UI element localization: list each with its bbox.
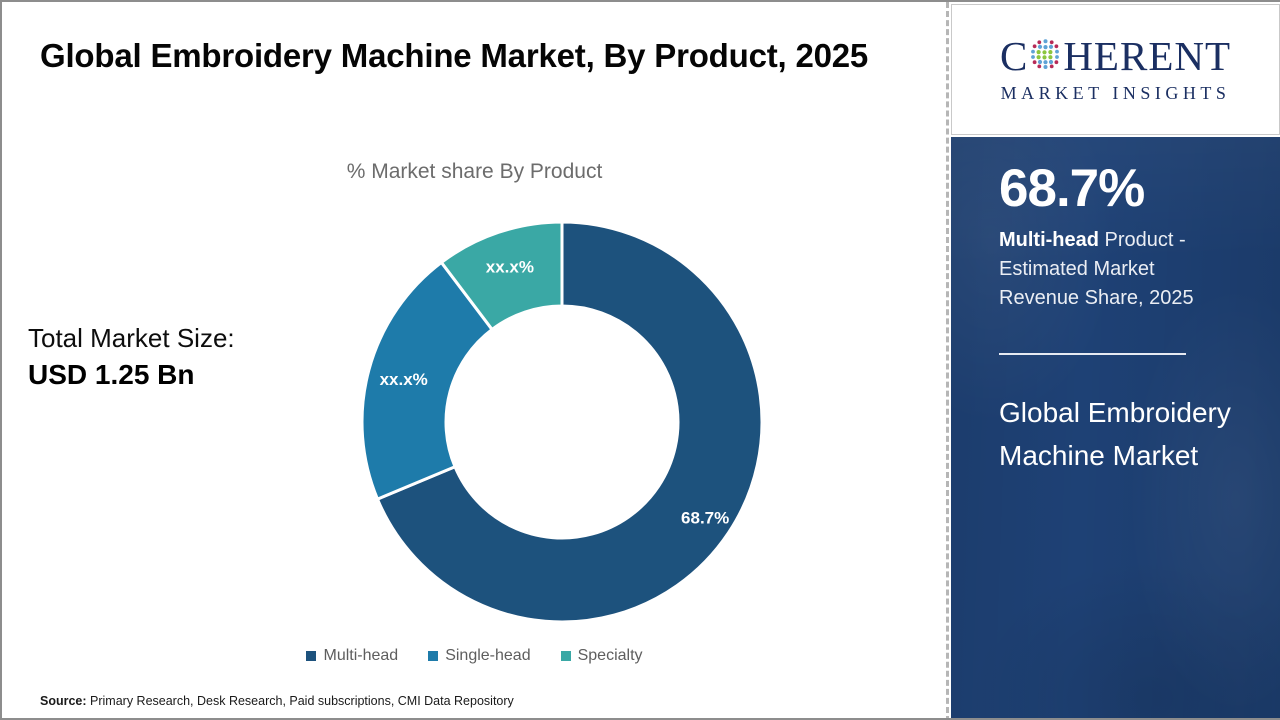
donut-label-specialty: xx.x% bbox=[486, 258, 534, 277]
panel-divider bbox=[946, 2, 949, 720]
stat-divider bbox=[999, 353, 1186, 355]
source-text: Primary Research, Desk Research, Paid su… bbox=[87, 694, 514, 708]
infographic-page: Global Embroidery Machine Market, By Pro… bbox=[0, 0, 1280, 720]
legend-label: Specialty bbox=[578, 647, 643, 665]
legend-swatch-icon bbox=[561, 651, 571, 661]
donut-label-multi-head: 68.7% bbox=[681, 508, 729, 527]
logo-tagline: MARKET INSIGHTS bbox=[1001, 83, 1231, 104]
total-market-size-value: USD 1.25 Bn bbox=[28, 357, 328, 393]
legend-item-multi-head[interactable]: Multi-head bbox=[306, 647, 398, 665]
donut-label-single-head: xx.x% bbox=[380, 370, 428, 389]
legend-item-specialty[interactable]: Specialty bbox=[561, 647, 643, 665]
page-title: Global Embroidery Machine Market, By Pro… bbox=[40, 30, 920, 81]
stats-content: 68.7% Multi-head Product - Estimated Mar… bbox=[951, 161, 1280, 477]
total-market-size-block: Total Market Size: USD 1.25 Bn bbox=[28, 322, 328, 393]
market-name: Global Embroidery Machine Market bbox=[999, 391, 1249, 477]
donut-chart: 68.7%xx.x%xx.x% bbox=[347, 207, 777, 637]
globe-dots-icon bbox=[1029, 36, 1062, 77]
stat-description-highlight: Multi-head bbox=[999, 229, 1099, 251]
source-line: Source: Primary Research, Desk Research,… bbox=[40, 694, 514, 708]
logo-letter-c: C bbox=[1000, 36, 1028, 77]
right-column: C bbox=[951, 2, 1280, 720]
legend-label: Multi-head bbox=[323, 647, 398, 665]
chart-legend: Multi-headSingle-headSpecialty bbox=[2, 647, 947, 665]
stat-value: 68.7% bbox=[999, 161, 1280, 217]
total-market-size-label: Total Market Size: bbox=[28, 322, 328, 355]
legend-swatch-icon bbox=[306, 651, 316, 661]
donut-slice-group bbox=[362, 222, 762, 622]
legend-swatch-icon bbox=[428, 651, 438, 661]
left-panel: Global Embroidery Machine Market, By Pro… bbox=[2, 2, 947, 720]
donut-chart-svg: 68.7%xx.x%xx.x% bbox=[347, 207, 777, 637]
logo-wordmark-rest: HERENT bbox=[1063, 36, 1231, 77]
stats-panel: 68.7% Multi-head Product - Estimated Mar… bbox=[951, 137, 1280, 720]
chart-subtitle: % Market share By Product bbox=[2, 160, 947, 184]
source-label: Source: bbox=[40, 694, 87, 708]
stat-description: Multi-head Product - Estimated Market Re… bbox=[999, 226, 1227, 314]
logo-wordmark: C bbox=[1000, 36, 1231, 77]
legend-item-single-head[interactable]: Single-head bbox=[428, 647, 530, 665]
legend-label: Single-head bbox=[445, 647, 530, 665]
company-logo: C bbox=[951, 4, 1280, 135]
